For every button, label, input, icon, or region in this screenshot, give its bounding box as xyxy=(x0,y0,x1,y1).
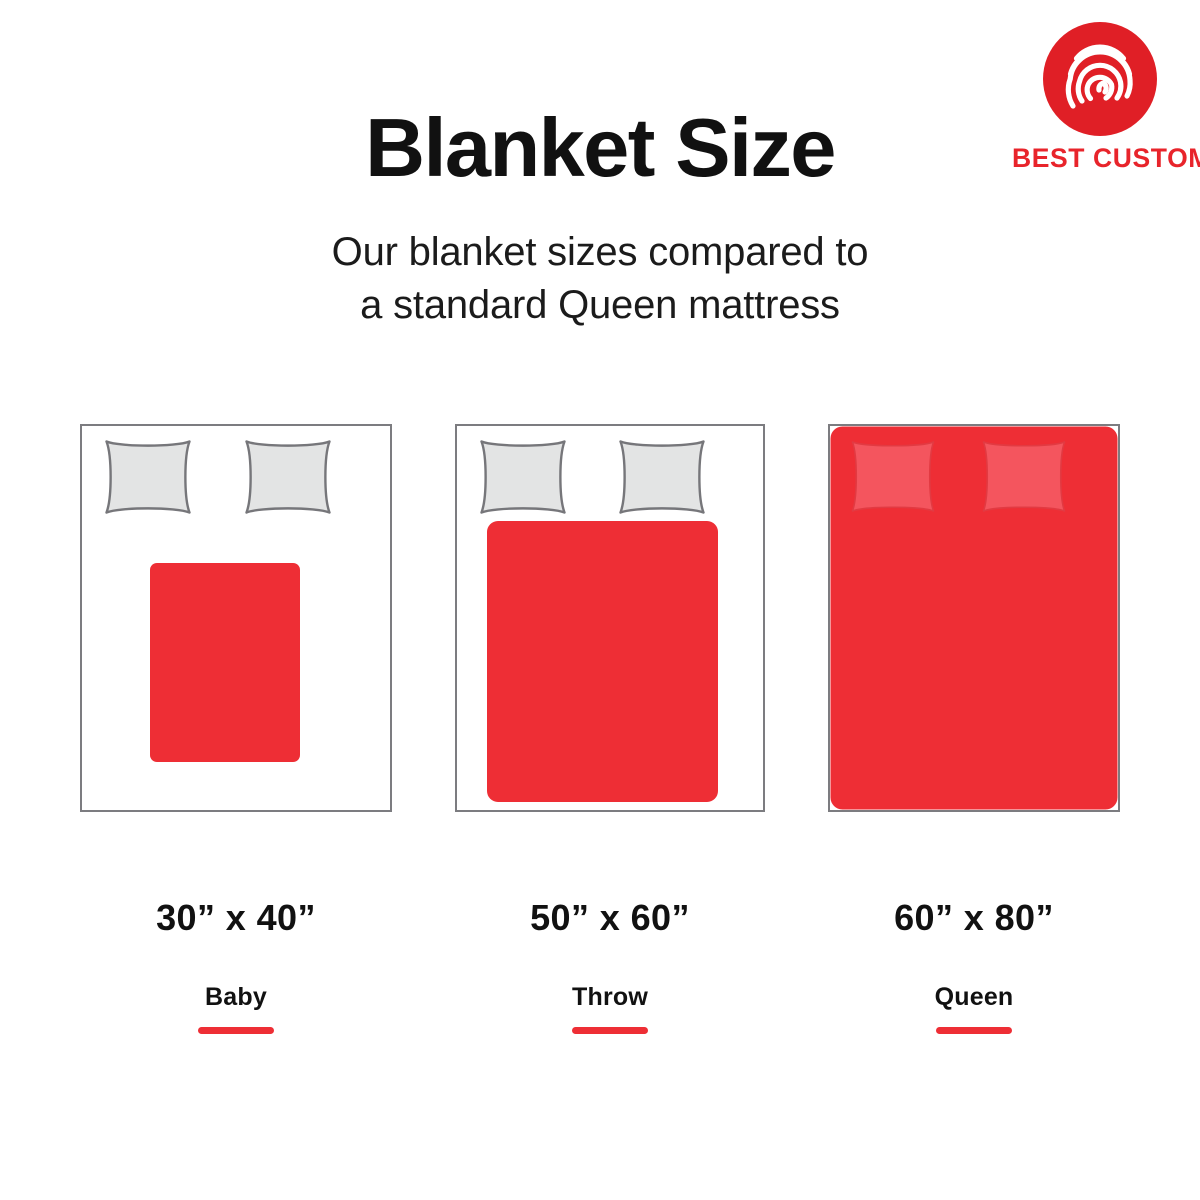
size-dimensions-baby: 30” x 40” xyxy=(78,900,394,936)
page-subtitle-line-2: a standard Queen mattress xyxy=(0,279,1200,332)
pillow-right-icon xyxy=(247,442,330,513)
bed-diagram-queen xyxy=(828,424,1120,812)
size-name-queen: Queen xyxy=(826,985,1122,1010)
bed-diagram-baby xyxy=(80,424,392,812)
pillow-left-icon xyxy=(482,442,565,513)
size-underline-baby xyxy=(198,1027,274,1034)
size-dimensions-throw: 50” x 60” xyxy=(452,900,768,936)
page-title: Blanket Size xyxy=(0,106,1200,189)
size-name-throw: Throw xyxy=(452,985,768,1010)
bed-contents-throw xyxy=(455,424,765,812)
page-subtitle: Our blanket sizes compared to a standard… xyxy=(0,226,1200,332)
size-caption-queen: 60” x 80” Queen xyxy=(826,900,1122,1034)
bed-diagram-throw xyxy=(455,424,765,812)
size-underline-queen xyxy=(936,1027,1012,1034)
pillow-left-icon xyxy=(853,442,934,511)
bed-contents-queen xyxy=(828,424,1120,812)
blanket-shape-throw xyxy=(487,521,718,802)
blanket-shape-baby xyxy=(150,563,300,762)
size-caption-throw: 50” x 60” Throw xyxy=(452,900,768,1034)
size-name-baby: Baby xyxy=(78,985,394,1010)
pillow-left-icon xyxy=(107,442,190,513)
page-subtitle-line-1: Our blanket sizes compared to xyxy=(0,226,1200,279)
size-caption-baby: 30” x 40” Baby xyxy=(78,900,394,1034)
size-dimensions-queen: 60” x 80” xyxy=(826,900,1122,936)
size-underline-throw xyxy=(572,1027,648,1034)
pillow-right-icon xyxy=(621,442,704,513)
bed-contents-baby xyxy=(80,424,392,812)
pillow-right-icon xyxy=(984,442,1065,511)
